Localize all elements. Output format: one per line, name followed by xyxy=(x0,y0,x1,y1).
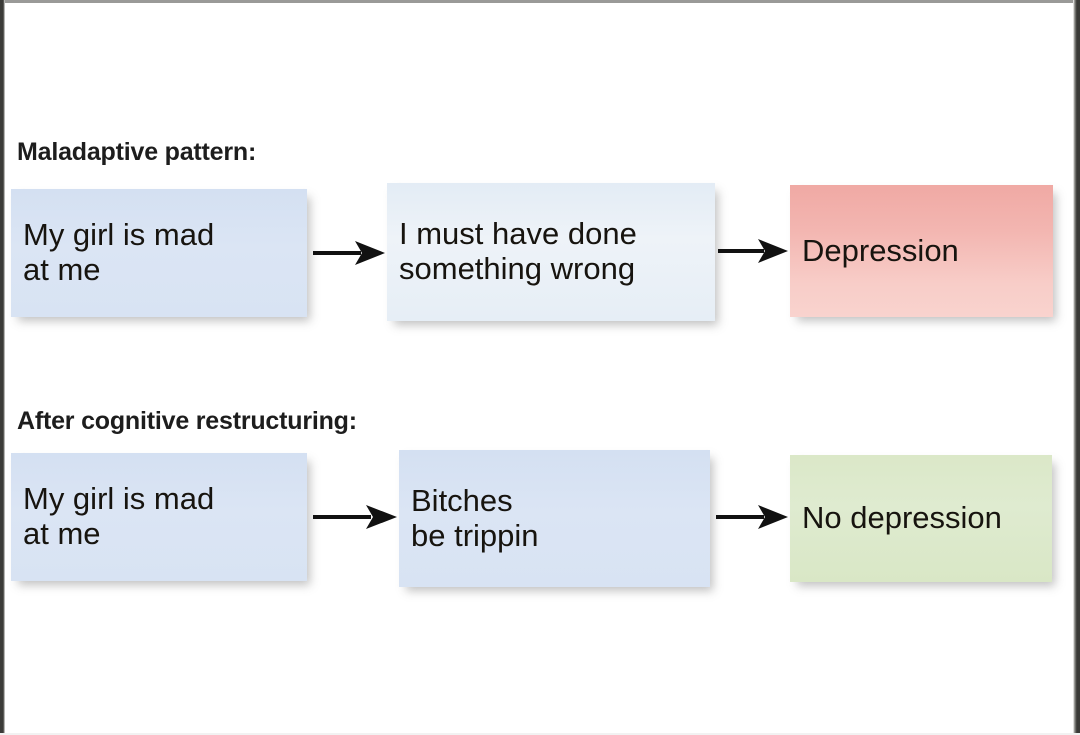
node-line-1: Bitches xyxy=(411,483,513,518)
node-outcome-depression: Depression xyxy=(790,185,1053,317)
section-title-maladaptive: Maladaptive pattern: xyxy=(17,138,256,167)
node-thought-restructured: Bitches be trippin xyxy=(399,450,710,587)
arrow-thought-to-outcome-maladaptive xyxy=(718,234,788,268)
section-title-restructured: After cognitive restructuring: xyxy=(17,407,357,436)
node-line-1: My girl is mad xyxy=(23,481,214,516)
arrow-thought-to-outcome-restructured xyxy=(716,500,788,534)
node-text: Depression xyxy=(802,234,959,269)
node-line-2: be trippin xyxy=(411,518,539,553)
node-text: My girl is mad at me xyxy=(23,482,214,551)
node-line-2: at me xyxy=(23,252,101,287)
frame-edge-right xyxy=(1073,0,1080,735)
node-line-2: at me xyxy=(23,516,101,551)
node-text: No depression xyxy=(802,501,1002,536)
frame-edge-top xyxy=(0,0,1080,3)
node-text: I must have done something wrong xyxy=(399,217,637,286)
node-outcome-no-depression: No depression xyxy=(790,455,1052,582)
arrow-trigger-to-thought-maladaptive xyxy=(313,236,385,270)
node-thought-maladaptive: I must have done something wrong xyxy=(387,183,715,321)
node-line-1: My girl is mad xyxy=(23,217,214,252)
node-text: Bitches be trippin xyxy=(411,484,539,553)
node-trigger-maladaptive: My girl is mad at me xyxy=(11,189,307,317)
node-line-1: I must have done xyxy=(399,216,637,251)
frame-edge-left xyxy=(0,0,5,735)
node-line-2: something wrong xyxy=(399,251,635,286)
node-text: My girl is mad at me xyxy=(23,218,214,287)
diagram-canvas: Maladaptive pattern: My girl is mad at m… xyxy=(0,0,1080,735)
node-trigger-restructured: My girl is mad at me xyxy=(11,453,307,581)
arrow-trigger-to-thought-restructured xyxy=(313,500,397,534)
